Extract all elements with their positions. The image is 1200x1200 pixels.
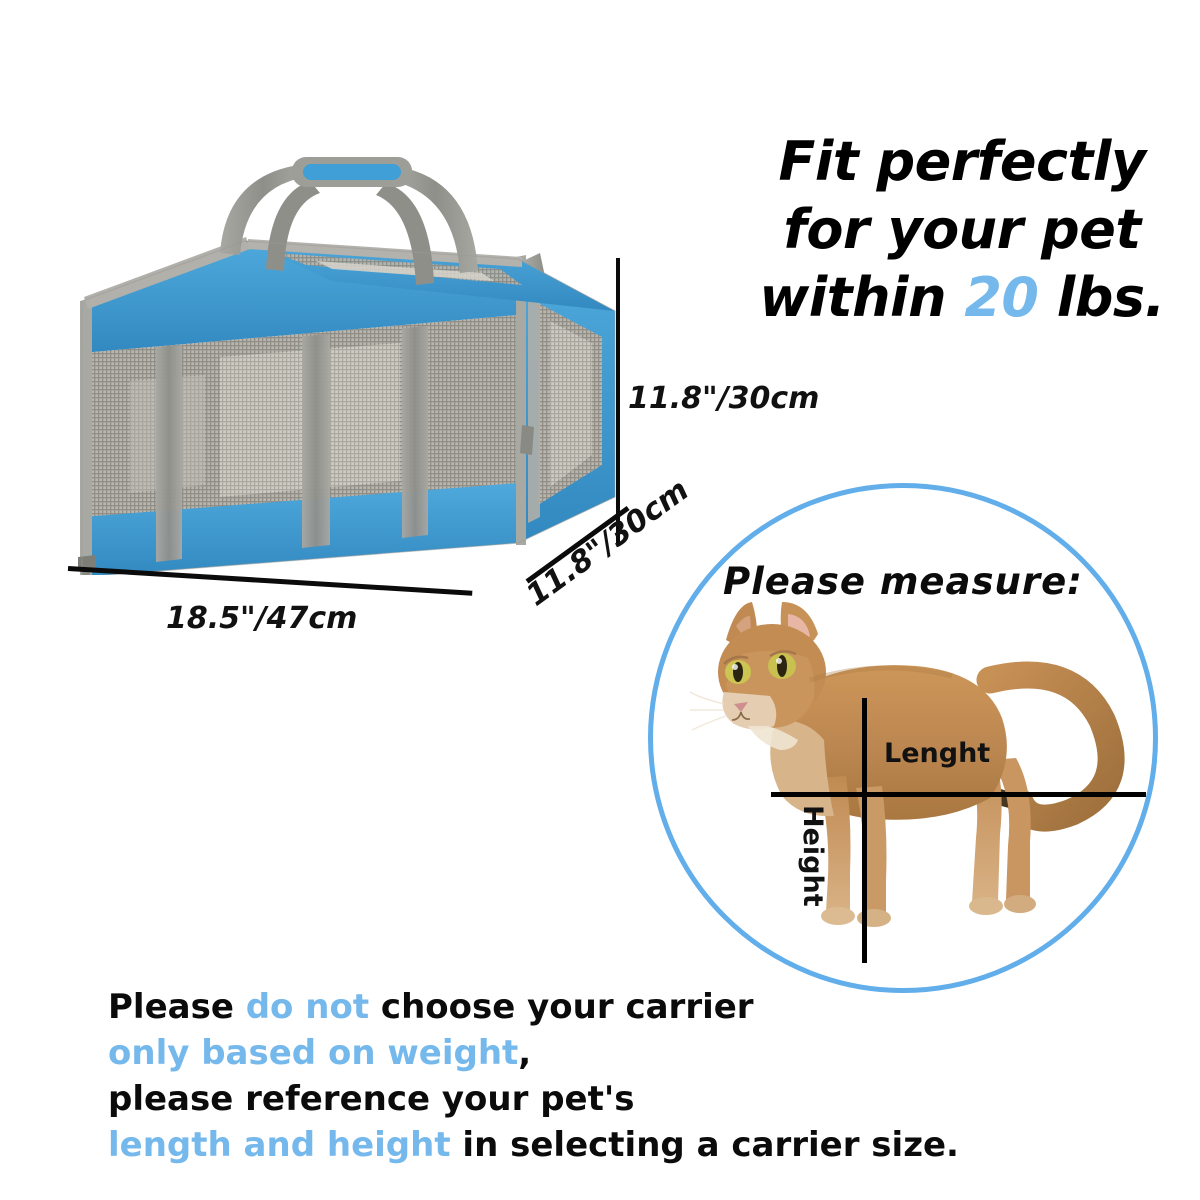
height-label: Height xyxy=(797,805,828,907)
measure-title: Please measure: xyxy=(648,560,1158,603)
headline-line-3: within 20 lbs. xyxy=(752,264,1172,332)
infographic-page: Fit perfectly for your pet within 20 lbs… xyxy=(0,0,1200,1200)
paw xyxy=(1004,895,1036,913)
note-do-not-text: do not xyxy=(246,987,369,1027)
note-length-height-text: length and height xyxy=(108,1125,451,1165)
headline-lbs-text: lbs. xyxy=(1038,266,1164,329)
pet-carrier-product-image xyxy=(70,125,630,575)
headline-weight-value: 20 xyxy=(964,266,1038,329)
width-dimension-label: 18.5"/47cm xyxy=(166,601,357,636)
height-dimension-line xyxy=(616,258,620,543)
height-measure-line xyxy=(862,698,867,963)
length-label: Lenght xyxy=(884,738,990,769)
note-please-text: Please xyxy=(108,987,246,1027)
note-choose-carrier-text: choose your carrier xyxy=(369,987,754,1027)
bottom-note: Please do not choose your carrier only b… xyxy=(108,984,988,1168)
headline-line-1: Fit perfectly xyxy=(752,128,1172,196)
paw xyxy=(969,897,1003,915)
note-weight-text: only based on weight xyxy=(108,1033,518,1073)
note-selecting-size-text: in selecting a carrier size. xyxy=(451,1125,959,1165)
muzzle xyxy=(722,692,776,730)
headline-within-text: within xyxy=(759,266,964,329)
bottom-note-line-3: please reference your pet's xyxy=(108,1076,988,1122)
length-measure-line xyxy=(771,792,1146,797)
zipper-pull-side xyxy=(520,425,534,455)
bottom-note-line-2: only based on weight, xyxy=(108,1030,988,1076)
bottom-note-line-1: Please do not choose your carrier xyxy=(108,984,988,1030)
headline-line-2: for your pet xyxy=(752,196,1172,264)
height-dimension-label: 11.8"/30cm xyxy=(628,381,819,416)
headline: Fit perfectly for your pet within 20 lbs… xyxy=(752,128,1172,332)
handle-grip-padding xyxy=(303,164,401,180)
bottom-note-line-4: length and height in selecting a carrier… xyxy=(108,1122,988,1168)
paw xyxy=(821,907,855,925)
note-comma: , xyxy=(518,1033,531,1073)
